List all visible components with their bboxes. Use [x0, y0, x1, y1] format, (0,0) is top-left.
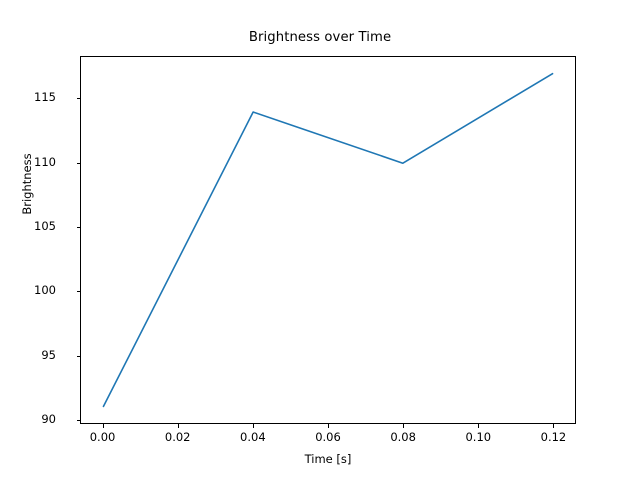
plot-axes-area — [80, 56, 576, 424]
chart-title: Brightness over Time — [0, 30, 640, 45]
y-tick-mark — [77, 291, 81, 292]
y-tick-mark — [77, 98, 81, 99]
x-axis-label: Time [s] — [80, 452, 576, 466]
x-tick-label: 0.00 — [63, 430, 143, 444]
x-tick-mark — [328, 424, 329, 428]
x-tick-label: 0.12 — [513, 430, 593, 444]
y-axis-label-text: Brightness — [20, 153, 34, 214]
x-tick-label: 0.02 — [138, 430, 218, 444]
x-tick-mark — [253, 424, 254, 428]
x-tick-label: 0.10 — [438, 430, 518, 444]
series-line-brightness — [103, 74, 552, 407]
y-tick-label: 90 — [0, 412, 56, 426]
x-tick-label: 0.06 — [288, 430, 368, 444]
y-tick-mark — [77, 420, 81, 421]
line-plot-svg — [81, 57, 575, 423]
x-tick-mark — [103, 424, 104, 428]
figure-canvas: Brightness over Time 0.000.020.040.060.0… — [0, 0, 640, 480]
x-tick-mark — [403, 424, 404, 428]
x-tick-mark — [553, 424, 554, 428]
y-axis-label: Brightness — [20, 34, 34, 334]
y-tick-mark — [77, 227, 81, 228]
x-tick-mark — [178, 424, 179, 428]
y-tick-mark — [77, 163, 81, 164]
x-tick-label: 0.08 — [363, 430, 443, 444]
y-tick-label: 95 — [0, 348, 56, 362]
x-tick-mark — [478, 424, 479, 428]
y-tick-mark — [77, 356, 81, 357]
x-tick-label: 0.04 — [213, 430, 293, 444]
